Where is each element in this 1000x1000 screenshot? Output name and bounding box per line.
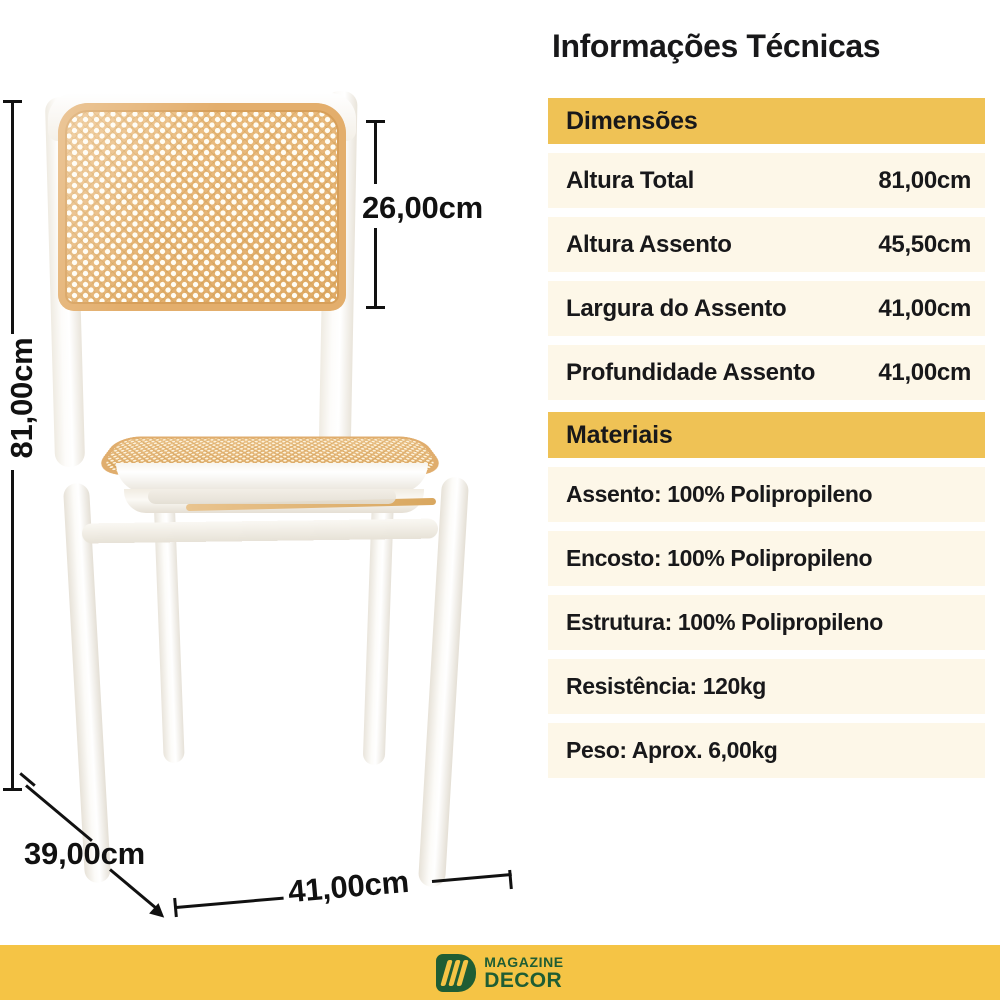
section-header-materiais: Materiais (548, 412, 985, 458)
page-title: Informações Técnicas (552, 28, 880, 65)
spec-value: 41,00cm (878, 359, 971, 387)
dimension-tick-total-height-bottom (3, 788, 22, 791)
material-text: Encosto: 100% Polipropileno (566, 545, 872, 572)
spec-key: Largura do Assento (566, 295, 786, 323)
spec-key: Altura Assento (566, 231, 732, 259)
dimension-line-total-height-upper (11, 102, 14, 334)
spec-row-material-estrutura: Estrutura: 100% Polipropileno (548, 595, 985, 650)
spec-value: 45,50cm (878, 231, 971, 259)
spec-row-altura-total: Altura Total 81,00cm (548, 153, 985, 208)
dimension-label-depth: 39,00cm (24, 836, 145, 872)
section-header-label: Dimensões (566, 107, 698, 136)
brand-name-line2: DECOR (484, 970, 563, 991)
backrest-cane-panel (58, 103, 346, 311)
dimension-tick-width-right (508, 870, 513, 889)
spec-key: Altura Total (566, 167, 694, 195)
footer-brand-bar: MAGAZINE DECOR (0, 945, 1000, 1000)
dimension-line-total-height-lower (11, 470, 14, 790)
spec-row-largura-assento: Largura do Assento 41,00cm (548, 281, 985, 336)
leg-stretcher-back (148, 489, 396, 504)
material-text: Resistência: 120kg (566, 673, 766, 700)
spec-row-peso: Peso: Aprox. 6,00kg (548, 723, 985, 778)
spec-value: 41,00cm (878, 295, 971, 323)
section-header-dimensoes: Dimensões (548, 98, 985, 144)
spec-list: Dimensões Altura Total 81,00cm Altura As… (548, 98, 985, 787)
technical-specs-panel: Informações Técnicas Dimensões Altura To… (530, 0, 1000, 945)
spec-row-resistencia: Resistência: 120kg (548, 659, 985, 714)
material-text: Peso: Aprox. 6,00kg (566, 737, 777, 764)
material-text: Estrutura: 100% Polipropileno (566, 609, 883, 636)
spec-row-profundidade-assento: Profundidade Assento 41,00cm (548, 345, 985, 400)
product-illustration-panel: 81,00cm 26,00cm 39,00cm 41,00cm (0, 0, 530, 945)
section-header-label: Materiais (566, 421, 673, 450)
spec-row-altura-assento: Altura Assento 45,50cm (548, 217, 985, 272)
brand-logo: MAGAZINE DECOR (436, 954, 563, 992)
spec-key: Profundidade Assento (566, 359, 815, 387)
spec-value: 81,00cm (878, 167, 971, 195)
spec-row-material-assento: Assento: 100% Polipropileno (548, 467, 985, 522)
dimension-line-backrest-upper (374, 122, 377, 184)
magazine-decor-monogram-icon (436, 954, 476, 992)
dimension-tick-backrest-bottom (366, 306, 385, 309)
dimension-line-backrest-lower (374, 228, 377, 308)
brand-wordmark: MAGAZINE DECOR (484, 955, 563, 991)
dimension-label-backrest-height: 26,00cm (362, 190, 483, 226)
dimension-label-total-height: 81,00cm (4, 336, 40, 460)
brand-name-line1: MAGAZINE (484, 955, 563, 969)
material-text: Assento: 100% Polipropileno (566, 481, 872, 508)
spec-row-material-encosto: Encosto: 100% Polipropileno (548, 531, 985, 586)
